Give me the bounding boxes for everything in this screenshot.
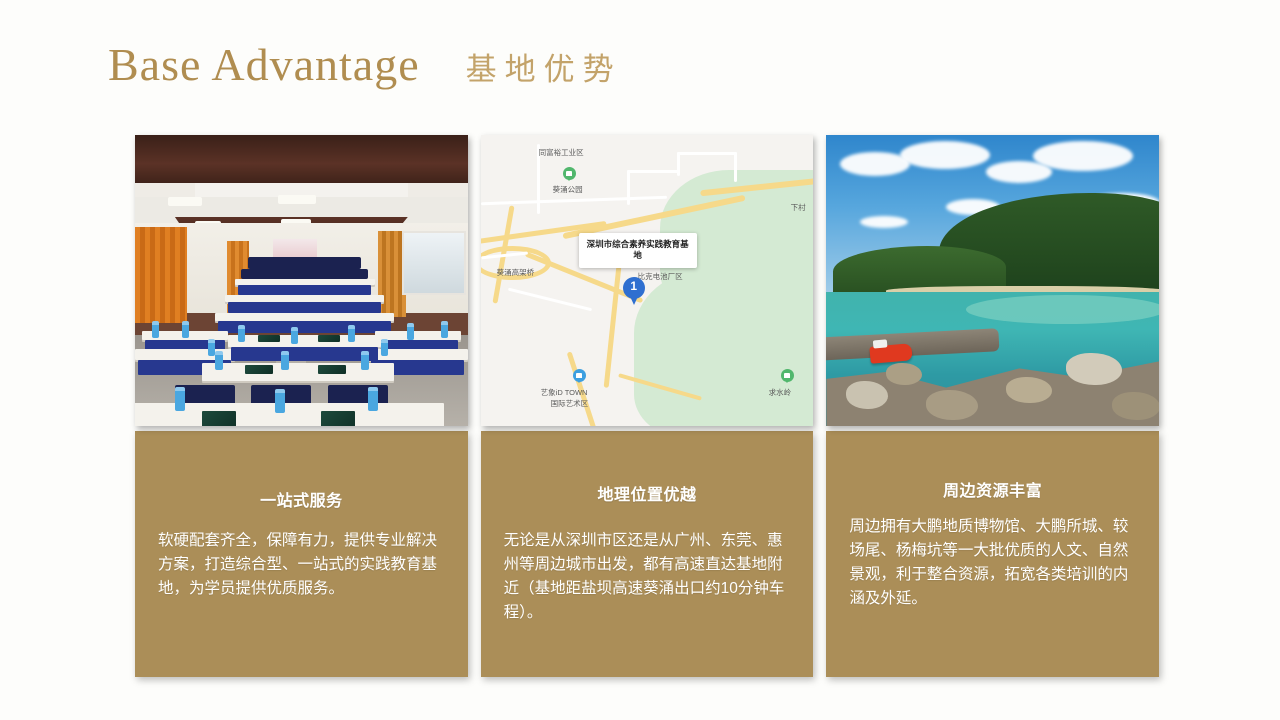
- map-label: 艺象iD TOWN: [541, 387, 588, 398]
- location-map-photo[interactable]: 同富裕工业区 葵涌公园 下村 葵涌高架桥 比克电池厂区 艺象iD TOWN 国际…: [481, 135, 814, 426]
- rescue-boat: [869, 343, 912, 364]
- card-title: 一站式服务: [158, 487, 445, 511]
- map-label: 国际艺术区: [551, 398, 589, 409]
- card-title: 地理位置优越: [504, 481, 791, 505]
- advantage-columns: 一站式服务 软硬配套齐全，保障有力，提供专业解决方案，打造综合型、一站式的实践教…: [135, 135, 1159, 677]
- map-tooltip-base-name: 深圳市综合素养实践教育基地: [579, 233, 697, 268]
- art-district-poi-icon[interactable]: [573, 369, 586, 382]
- map-label: 下村: [791, 202, 806, 213]
- page-title-chinese: 基地优势: [466, 54, 622, 85]
- map-label: 葵涌公园: [553, 184, 583, 195]
- advantage-column-1: 一站式服务 软硬配套齐全，保障有力，提供专业解决方案，打造综合型、一站式的实践教…: [135, 135, 468, 677]
- advantage-card-1: 一站式服务 软硬配套齐全，保障有力，提供专业解决方案，打造综合型、一站式的实践教…: [135, 431, 468, 677]
- card-body: 无论是从深圳市区还是从广州、东莞、惠州等周边城市出发，都有高速直达基地附近（基地…: [504, 529, 791, 625]
- map-location-marker[interactable]: 1: [623, 277, 645, 305]
- map-canvas[interactable]: 同富裕工业区 葵涌公园 下村 葵涌高架桥 比克电池厂区 艺象iD TOWN 国际…: [481, 135, 814, 426]
- slide-title-row: Base Advantage 基地优势: [108, 42, 622, 88]
- advantage-card-3: 周边资源丰富 周边拥有大鹏地质博物馆、大鹏所城、较场尾、杨梅坑等一大批优质的人文…: [826, 431, 1159, 677]
- page-title-english: Base Advantage: [108, 42, 420, 88]
- park-poi-icon[interactable]: [563, 167, 576, 180]
- advantage-column-2: 同富裕工业区 葵涌公园 下村 葵涌高架桥 比克电池厂区 艺象iD TOWN 国际…: [481, 135, 814, 677]
- map-label: 同富裕工业区: [539, 147, 584, 158]
- map-label: 求水岭: [769, 387, 792, 398]
- training-classroom-photo: [135, 135, 468, 426]
- seaside-landscape-photo: [826, 135, 1159, 426]
- hill-poi-icon[interactable]: [781, 369, 794, 382]
- card-body: 周边拥有大鹏地质博物馆、大鹏所城、较场尾、杨梅坑等一大批优质的人文、自然景观，利…: [849, 515, 1136, 611]
- seaside-illustration: [826, 135, 1159, 426]
- map-label: 葵涌高架桥: [497, 267, 535, 278]
- card-title: 周边资源丰富: [849, 477, 1136, 501]
- marker-number: 1: [623, 279, 645, 293]
- advantage-card-2: 地理位置优越 无论是从深圳市区还是从广州、东莞、惠州等周边城市出发，都有高速直达…: [481, 431, 814, 677]
- advantage-column-3: 周边资源丰富 周边拥有大鹏地质博物馆、大鹏所城、较场尾、杨梅坑等一大批优质的人文…: [826, 135, 1159, 677]
- classroom-illustration: [135, 135, 468, 426]
- card-body: 软硬配套齐全，保障有力，提供专业解决方案，打造综合型、一站式的实践教育基地，为学…: [158, 529, 445, 601]
